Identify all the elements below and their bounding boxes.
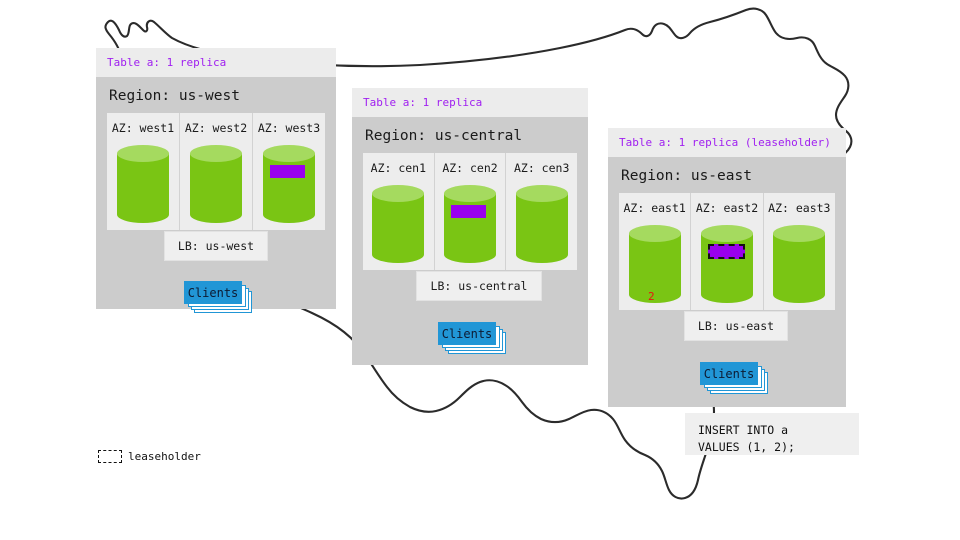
cylinder-top	[516, 185, 568, 202]
az-cell-cen3[interactable]: AZ: cen3	[506, 153, 577, 270]
az-cell-cen1[interactable]: AZ: cen1	[363, 153, 435, 270]
db-node-icon[interactable]	[444, 185, 496, 263]
az-label: AZ: west3	[253, 121, 325, 135]
cylinder-body	[444, 193, 496, 254]
az-cell-west3[interactable]: AZ: west3	[253, 113, 325, 230]
load-balancer-us-west[interactable]: LB: us-west	[164, 231, 268, 261]
region-header-label: Table a: 1 replica (leaseholder)	[608, 128, 846, 157]
az-label: AZ: cen1	[363, 161, 434, 175]
az-cell-west1[interactable]: AZ: west1	[107, 113, 180, 230]
az-label: AZ: cen2	[435, 161, 506, 175]
arrow-step-label: 2	[648, 290, 655, 303]
clients-label[interactable]: Clients	[438, 322, 496, 345]
cylinder-body	[701, 233, 753, 294]
cylinder-body	[516, 193, 568, 254]
cylinder-body	[773, 233, 825, 294]
region-header-label: Table a: 1 replica	[352, 88, 588, 117]
cylinder-top	[190, 145, 242, 162]
cylinder-top	[117, 145, 169, 162]
az-label: AZ: west2	[180, 121, 252, 135]
az-label: AZ: east3	[764, 201, 835, 215]
cylinder-body	[629, 233, 681, 294]
az-label: AZ: east1	[619, 201, 690, 215]
az-strip: AZ: west1 AZ: west2 AZ	[107, 113, 325, 230]
sql-statement-box: INSERT INTO a VALUES (1, 2);	[685, 413, 859, 455]
legend-leaseholder: leaseholder	[98, 450, 201, 463]
db-node-icon[interactable]	[516, 185, 568, 263]
az-label: AZ: west1	[107, 121, 179, 135]
az-cell-east1[interactable]: AZ: east1	[619, 193, 691, 310]
az-cell-east3[interactable]: AZ: east3	[764, 193, 835, 310]
load-balancer-us-east[interactable]: LB: us-east	[684, 311, 788, 341]
db-node-icon[interactable]	[372, 185, 424, 263]
region-title: Region: us-west	[96, 77, 336, 113]
replica-block	[451, 205, 486, 218]
load-balancer-us-central[interactable]: LB: us-central	[416, 271, 542, 301]
cylinder-body	[263, 153, 315, 214]
region-header-label: Table a: 1 replica	[96, 48, 336, 77]
cylinder-top	[444, 185, 496, 202]
cylinder-body	[190, 153, 242, 214]
cylinder-body	[117, 153, 169, 214]
region-panel-us-west: Table a: 1 replica Region: us-west AZ: w…	[96, 48, 336, 309]
region-title: Region: us-east	[608, 157, 846, 193]
clients-stack-us-west[interactable]: Clients	[184, 281, 252, 313]
replica-block	[270, 165, 305, 178]
cylinder-top	[701, 225, 753, 242]
db-node-icon[interactable]	[629, 225, 681, 303]
legend-label: leaseholder	[128, 450, 201, 463]
db-node-icon[interactable]	[117, 145, 169, 223]
az-strip: AZ: cen1 AZ: cen2	[363, 153, 577, 270]
clients-label[interactable]: Clients	[700, 362, 758, 385]
az-label: AZ: cen3	[506, 161, 577, 175]
diagram-canvas: Table a: 1 replica Region: us-west AZ: w…	[0, 0, 960, 540]
az-cell-cen2[interactable]: AZ: cen2	[435, 153, 507, 270]
az-cell-east2[interactable]: AZ: east2	[691, 193, 763, 310]
db-node-icon[interactable]	[701, 225, 753, 303]
region-title: Region: us-central	[352, 117, 588, 153]
cylinder-top	[773, 225, 825, 242]
db-node-icon[interactable]	[773, 225, 825, 303]
az-label: AZ: east2	[691, 201, 762, 215]
clients-label[interactable]: Clients	[184, 281, 242, 304]
cylinder-top	[372, 185, 424, 202]
cylinder-body	[372, 193, 424, 254]
clients-stack-us-east[interactable]: Clients	[700, 362, 768, 394]
replica-block-leaseholder	[708, 244, 745, 259]
clients-stack-us-central[interactable]: Clients	[438, 322, 506, 354]
cylinder-top	[629, 225, 681, 242]
db-node-icon[interactable]	[263, 145, 315, 223]
az-cell-west2[interactable]: AZ: west2	[180, 113, 253, 230]
region-panel-us-east: Table a: 1 replica (leaseholder) Region:…	[608, 128, 846, 407]
db-node-icon[interactable]	[190, 145, 242, 223]
leaseholder-swatch-icon	[98, 450, 122, 463]
region-panel-us-central: Table a: 1 replica Region: us-central AZ…	[352, 88, 588, 365]
cylinder-top	[263, 145, 315, 162]
